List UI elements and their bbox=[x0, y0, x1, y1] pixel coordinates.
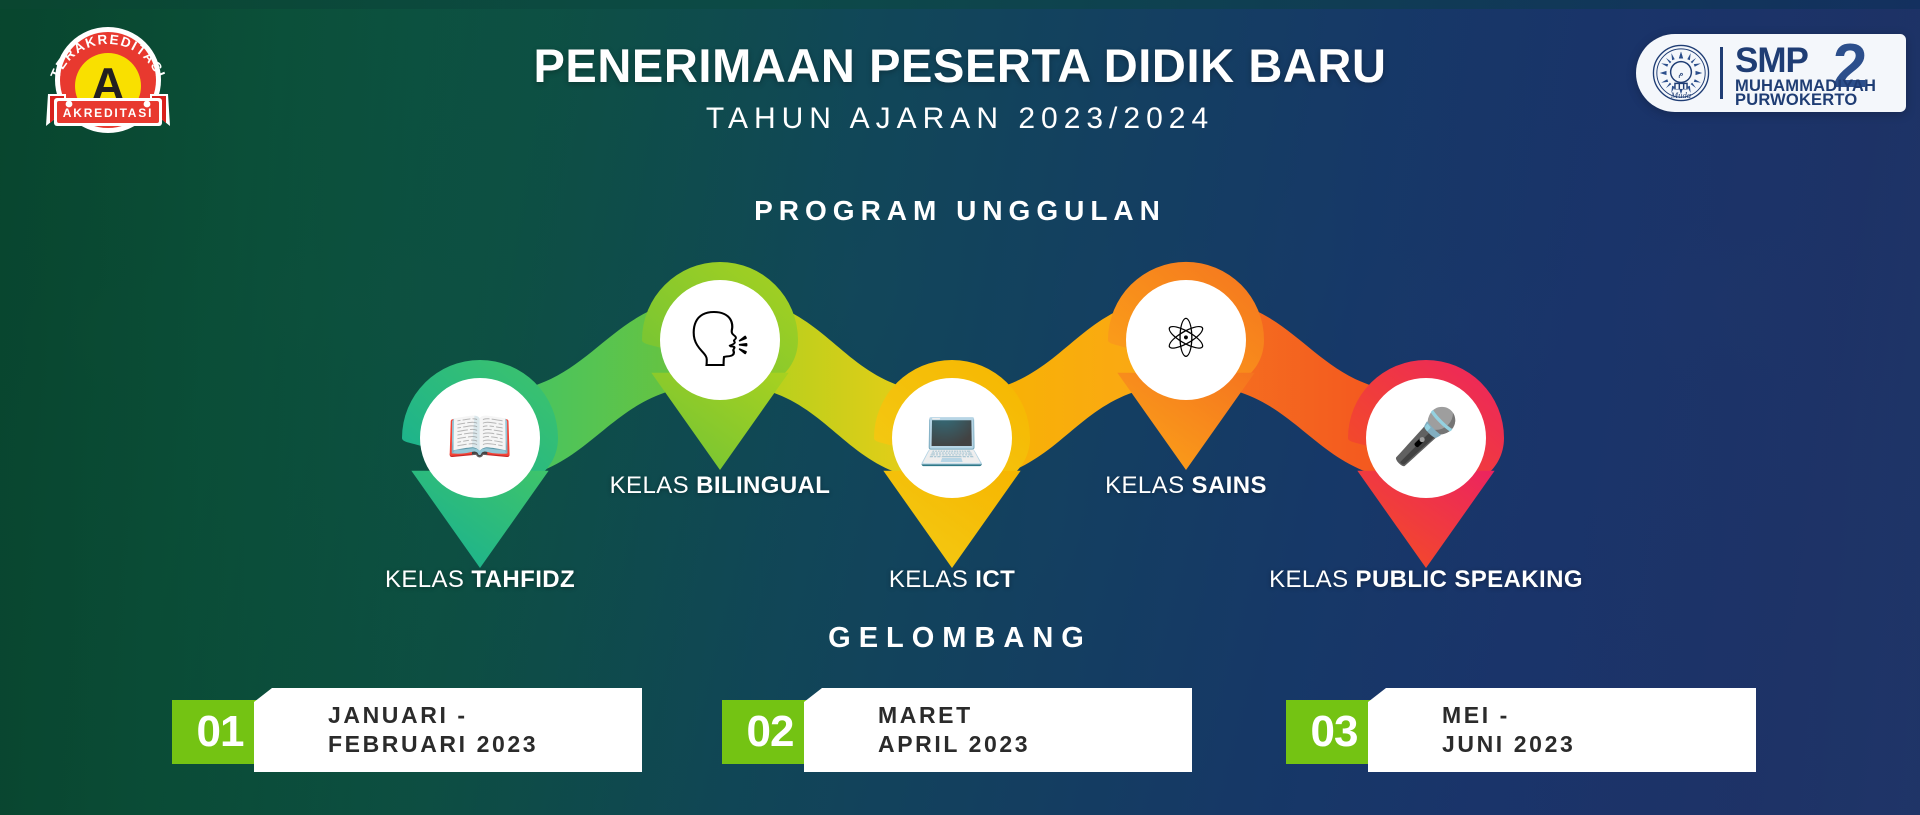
program-label-prefix: KELAS bbox=[889, 566, 975, 593]
wave-period-line-1: MARET bbox=[878, 701, 1192, 730]
gelombang-wave-02[interactable]: 02MARETAPRIL 2023 bbox=[722, 700, 1192, 772]
program-pin-label: KELAS ICT bbox=[889, 566, 1015, 594]
open-quran-book-icon: 📖 bbox=[446, 410, 513, 464]
wave-text-box: MARETAPRIL 2023 bbox=[804, 688, 1192, 772]
program-label-prefix: KELAS bbox=[1269, 566, 1355, 593]
wave-text-box: MEI -JUNI 2023 bbox=[1368, 688, 1756, 772]
wave-period-line-1: JANUARI - bbox=[328, 701, 642, 730]
program-label-prefix: KELAS bbox=[610, 472, 696, 499]
wave-period-line-2: APRIL 2023 bbox=[878, 730, 1192, 759]
wave-number: 01 bbox=[197, 707, 244, 757]
program-label-name: ICT bbox=[975, 566, 1015, 593]
program-list: 📖KELAS TAHFIDZ🗣KELAS BILINGUAL💻KELAS ICT… bbox=[0, 0, 1920, 640]
atom-icon: ⚛ bbox=[1162, 312, 1210, 366]
wave-number: 02 bbox=[747, 707, 794, 757]
program-label-name: PUBLIC SPEAKING bbox=[1356, 566, 1583, 593]
wave-number: 03 bbox=[1311, 707, 1358, 757]
wave-period-line-2: FEBRUARI 2023 bbox=[328, 730, 642, 759]
program-pin-label: KELAS TAHFIDZ bbox=[385, 566, 575, 594]
gelombang-wave-03[interactable]: 03MEI -JUNI 2023 bbox=[1286, 700, 1756, 772]
wave-text-box: JANUARI -FEBRUARI 2023 bbox=[254, 688, 642, 772]
gelombang-wave-01[interactable]: 01JANUARI -FEBRUARI 2023 bbox=[172, 700, 642, 772]
program-label-prefix: KELAS bbox=[385, 566, 471, 593]
ppdb-banner: A TERAKREDITASI AKREDITASI bbox=[0, 0, 1920, 815]
wave-period-line-1: MEI - bbox=[1442, 701, 1756, 730]
program-connector-ribbon bbox=[0, 0, 1920, 640]
podium-speaker-icon: 🎤 bbox=[1392, 410, 1459, 464]
program-pin-label: KELAS PUBLIC SPEAKING bbox=[1269, 566, 1583, 594]
translate-language-icon: 🗣 bbox=[686, 312, 755, 366]
laptop-chart-icon: 💻 bbox=[918, 410, 985, 464]
program-label-prefix: KELAS bbox=[1105, 472, 1191, 499]
gelombang-title: GELOMBANG bbox=[0, 622, 1920, 655]
wave-period-line-2: JUNI 2023 bbox=[1442, 730, 1756, 759]
program-label-name: SAINS bbox=[1192, 472, 1267, 499]
program-pin-label: KELAS BILINGUAL bbox=[610, 472, 831, 500]
program-label-name: TAHFIDZ bbox=[471, 566, 575, 593]
program-label-name: BILINGUAL bbox=[696, 472, 830, 499]
program-pin-label: KELAS SAINS bbox=[1105, 472, 1267, 500]
